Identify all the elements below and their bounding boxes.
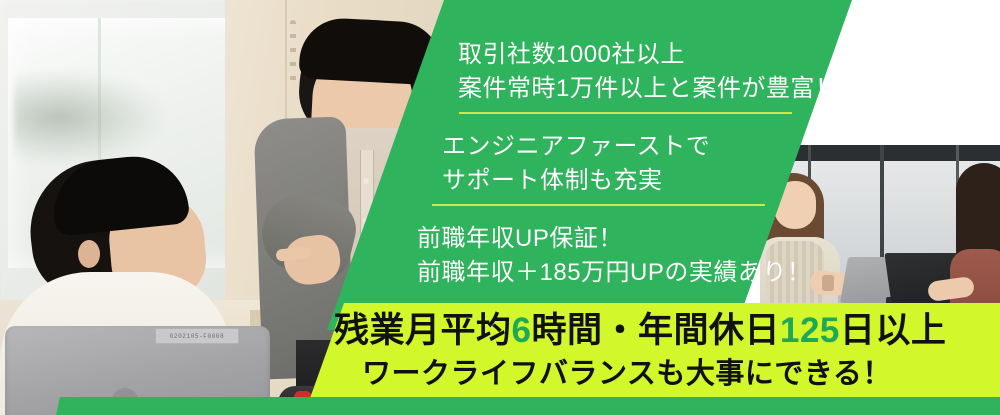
feature-salary: 前職年収UP保証！ 前職年収＋185万円UPの実績あり！ <box>417 222 811 290</box>
headline-text-layer: 残業月平均6時間・年間休日125日以上 ワークライフバランスも大事にできる！ <box>0 303 1000 401</box>
feature-support: エンジニアファーストで サポート体制も充実 <box>442 130 710 198</box>
headline-part-2: 時間・年間休日 <box>531 311 780 350</box>
feature-companies-line-1: 取引社数1000社以上 <box>458 38 839 72</box>
recruitment-hero-banner: G202105-F0008 取引社数1000社以上 案件常時1万件以上と案件が豊… <box>0 0 1000 415</box>
feature-companies: 取引社数1000社以上 案件常時1万件以上と案件が豊富！ <box>458 38 839 106</box>
feature-text-layer: 取引社数1000社以上 案件常時1万件以上と案件が豊富！ エンジニアファーストで… <box>0 0 1000 330</box>
feature-companies-line-2: 案件常時1万件以上と案件が豊富！ <box>458 72 839 106</box>
feature-support-line-2: サポート体制も充実 <box>442 164 710 198</box>
headline-part-1: 残業月平均 <box>334 311 512 350</box>
headline-line-1: 残業月平均6時間・年間休日125日以上 <box>334 309 946 353</box>
feature-salary-line-1: 前職年収UP保証！ <box>417 222 811 256</box>
feature-salary-line-2: 前職年収＋185万円UPの実績あり！ <box>417 256 811 290</box>
headline-holiday-days: 125 <box>780 311 840 350</box>
feature-support-line-1: エンジニアファーストで <box>442 130 710 164</box>
headline-line-2: ワークライフバランスも大事にできる！ <box>362 355 892 393</box>
headline-overtime-hours: 6 <box>512 311 532 350</box>
headline-part-3: 日以上 <box>840 311 947 350</box>
feature-divider-2 <box>432 204 765 206</box>
feature-divider-1 <box>459 112 792 114</box>
